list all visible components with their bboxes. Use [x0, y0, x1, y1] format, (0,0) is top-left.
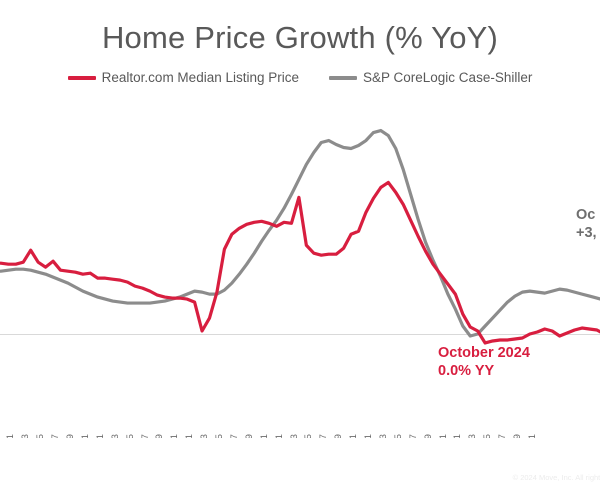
x-axis-tick: 2021.01	[274, 434, 285, 438]
x-axis-tick: 2019.05	[125, 434, 136, 438]
x-axis-tick: 2019.01	[95, 434, 106, 438]
x-axis-tick: 2021.09	[333, 434, 344, 438]
x-axis-tick: 2021.11	[348, 434, 359, 438]
x-axis-tick: 2018.01	[5, 434, 16, 438]
legend-label-case-shiller: S&P CoreLogic Case-Shiller	[363, 70, 532, 85]
legend-item-realtor[interactable]: Realtor.com Median Listing Price	[68, 70, 299, 85]
legend-item-case-shiller[interactable]: S&P CoreLogic Case-Shiller	[329, 70, 532, 85]
annotation-case-shiller-line1: Oc	[576, 206, 597, 224]
x-axis-tick: 2021.07	[318, 434, 329, 438]
x-axis-tick: 2021.03	[289, 434, 300, 438]
x-axis-tick: 2022.09	[423, 434, 434, 438]
x-axis-tick: 2023.11	[527, 434, 538, 438]
chart-canvas	[0, 96, 600, 374]
x-axis-tick: 2019.09	[154, 434, 165, 438]
legend-label-realtor: Realtor.com Median Listing Price	[102, 70, 299, 85]
annotation-case-shiller-line2: +3,	[576, 224, 597, 242]
x-axis-tick: 2018.11	[80, 434, 91, 438]
x-axis-tick: 2022.05	[393, 434, 404, 438]
x-axis-tick: 2023.03	[467, 434, 478, 438]
series-line-realtor	[0, 182, 600, 343]
chart-legend: Realtor.com Median Listing Price S&P Cor…	[0, 70, 600, 85]
x-axis-tick: 2019.03	[110, 434, 121, 438]
x-axis-tick: 2020.01	[184, 434, 195, 438]
chart-page: Home Price Growth (% YoY) Realtor.com Me…	[0, 0, 600, 500]
x-axis-tick: 2019.07	[140, 434, 151, 438]
copyright-notice: © 2024 Move, Inc. All rights	[513, 473, 600, 482]
page-title: Home Price Growth (% YoY)	[0, 20, 600, 56]
x-axis-tick: 2023.07	[497, 434, 508, 438]
x-axis-tick: 2019.11	[169, 434, 180, 438]
annotation-realtor-line2: 0.0% YY	[438, 362, 530, 380]
annotation-realtor: October 2024 0.0% YY	[438, 344, 530, 380]
series-line-case-shiller	[0, 131, 600, 336]
line-swatch-red-icon	[68, 76, 96, 80]
x-axis-tick: 2023.01	[452, 434, 463, 438]
line-swatch-gray-icon	[329, 76, 357, 80]
x-axis-tick: 2018.05	[35, 434, 46, 438]
x-axis-tick: 2021.05	[303, 434, 314, 438]
annotation-realtor-line1: October 2024	[438, 344, 530, 362]
x-axis-tick: 2022.01	[363, 434, 374, 438]
x-axis-tick: 2020.11	[259, 434, 270, 438]
x-axis-tick: 2020.09	[244, 434, 255, 438]
x-axis-tick: 2018.09	[65, 434, 76, 438]
x-axis-tick: 2023.09	[512, 434, 523, 438]
x-axis-tick: 2022.07	[408, 434, 419, 438]
x-axis-tick: 2018.03	[20, 434, 31, 438]
x-axis-tick: 2020.05	[214, 434, 225, 438]
x-axis-tick: 2018.07	[50, 434, 61, 438]
x-axis-tick: 2023.05	[482, 434, 493, 438]
plot-area	[0, 96, 600, 374]
x-axis: 2018.012018.032018.052018.072018.092018.…	[0, 380, 600, 438]
annotation-case-shiller: Oc +3,	[576, 206, 597, 242]
x-axis-tick: 2022.11	[438, 434, 449, 438]
x-axis-tick: 2020.07	[229, 434, 240, 438]
x-axis-tick: 2020.03	[199, 434, 210, 438]
x-axis-tick: 2022.03	[378, 434, 389, 438]
